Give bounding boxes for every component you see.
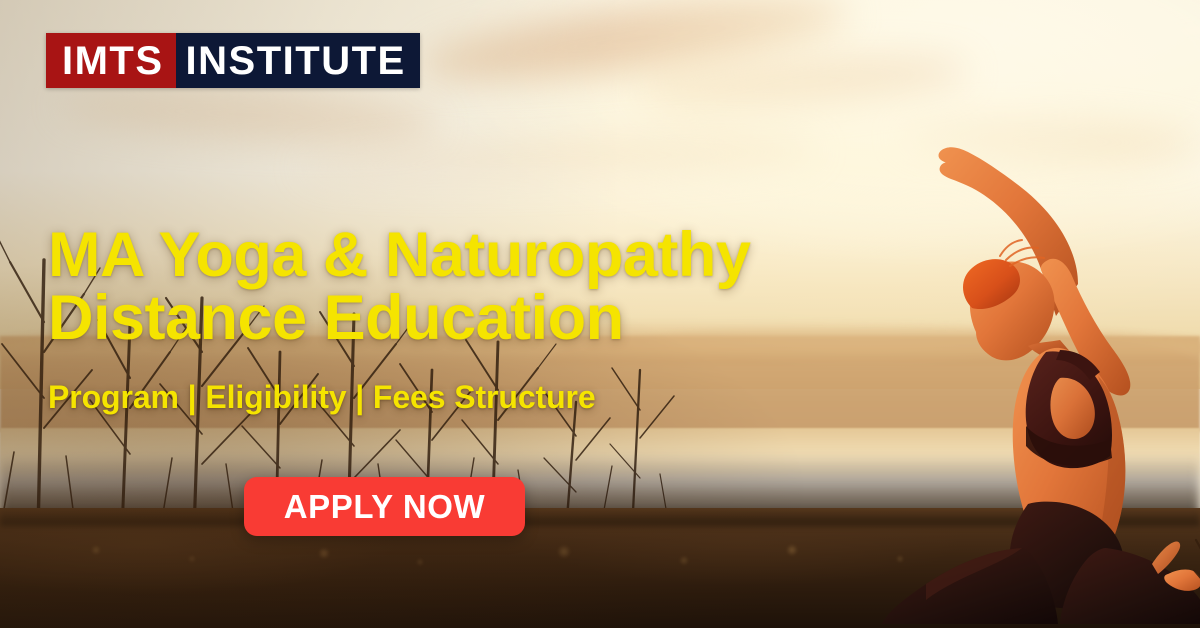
imts-institute-logo[interactable]: IMTS INSTITUTE — [46, 33, 420, 88]
logo-institute-text: INSTITUTE — [176, 33, 420, 88]
logo-imts-text: IMTS — [46, 33, 176, 88]
page-title: MA Yoga & Naturopathy Distance Education — [48, 224, 750, 349]
banner-content: IMTS INSTITUTE MA Yoga & Naturopathy Dis… — [0, 0, 1200, 628]
apply-now-button[interactable]: APPLY NOW — [244, 477, 525, 536]
headline-line-2: Distance Education — [48, 287, 750, 349]
promo-banner: IMTS INSTITUTE MA Yoga & Naturopathy Dis… — [0, 0, 1200, 628]
subtitle: Program | Eligibility | Fees Structure — [48, 381, 596, 413]
headline-line-1: MA Yoga & Naturopathy — [48, 224, 750, 286]
